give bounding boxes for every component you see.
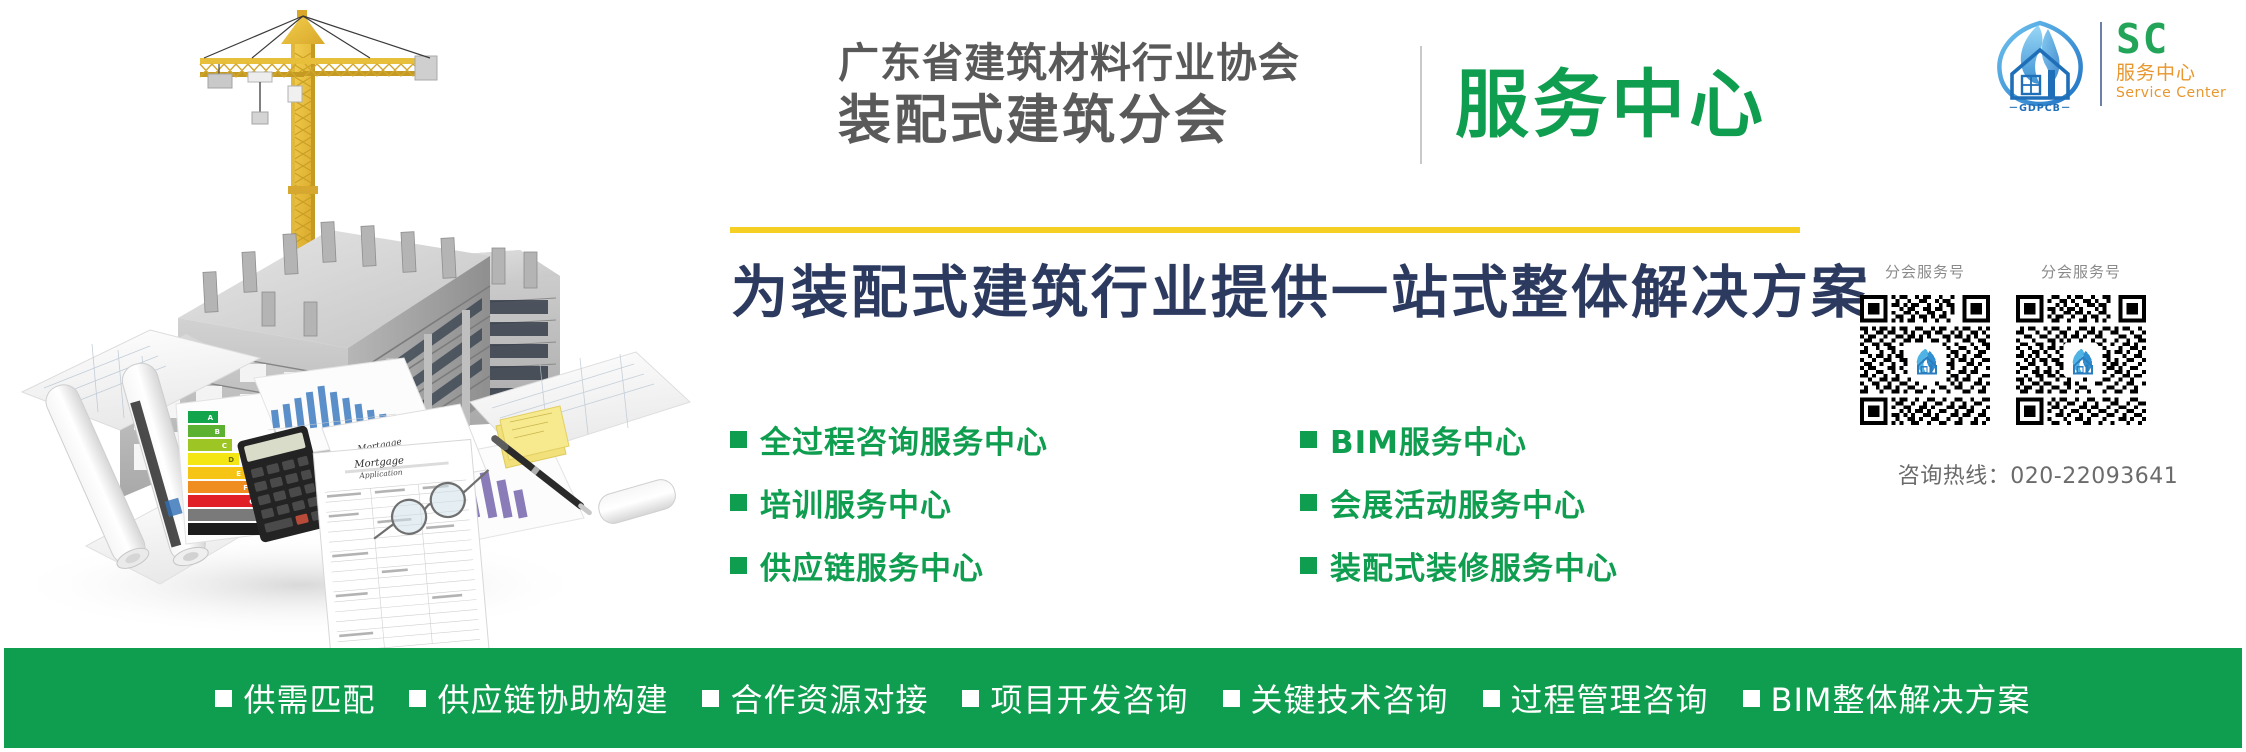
service-item[interactable]: 培训服务中心 (730, 471, 1200, 534)
service-item[interactable]: 装配式装修服务中心 (1300, 534, 1770, 597)
construction-hero-image: A B C D E F G H I (0, 0, 700, 648)
construction-site-illustration: A B C D E F G H I (0, 0, 700, 648)
service-item-label: BIM服务中心 (1330, 417, 1527, 462)
square-bullet-icon (1300, 557, 1317, 574)
yellow-divider-rule (730, 227, 1800, 233)
footer-item[interactable]: BIM整体解决方案 (1743, 675, 2031, 721)
footer-item-label: 供需匹配 (243, 675, 375, 721)
square-bullet-icon (1483, 690, 1500, 707)
square-bullet-icon (962, 690, 979, 707)
footer-item-label: 供应链协助构建 (437, 675, 668, 721)
service-item-label: 培训服务中心 (760, 480, 952, 525)
service-item[interactable]: 供应链服务中心 (730, 534, 1200, 597)
svg-text:A: A (208, 414, 214, 422)
service-centers-list: 全过程咨询服务中心 培训服务中心 供应链服务中心 BIM服务中心 会展活动服务中… (730, 408, 1790, 598)
svg-text:D: D (228, 456, 234, 464)
footer-capability-bar: 供需匹配 供应链协助构建 合作资源对接 项目开发咨询 关键技术咨询 过程管理咨询… (4, 648, 2242, 748)
svg-text:C: C (222, 442, 227, 450)
footer-item-label: BIM整体解决方案 (1771, 675, 2031, 721)
service-column-right: BIM服务中心 会展活动服务中心 装配式装修服务中心 (1300, 408, 1770, 597)
qr-code-icon[interactable] (2016, 295, 2146, 425)
gdpcb-house-flame-icon: －GDPCB－ (1988, 14, 2092, 114)
square-bullet-icon (702, 690, 719, 707)
qr-codes-block: 分会服务号 (1838, 262, 2238, 562)
svg-text:E: E (236, 470, 241, 478)
sc-english-label: Service Center (2116, 85, 2236, 102)
square-bullet-icon (1743, 690, 1760, 707)
main-slogan: 为装配式建筑行业提供一站式整体解决方案 (731, 258, 1871, 328)
association-name-line1: 广东省建筑材料行业协会 (838, 38, 1398, 88)
qr-code-icon[interactable] (1860, 295, 1990, 425)
service-item-label: 会展活动服务中心 (1330, 480, 1586, 525)
footer-item-label: 项目开发咨询 (990, 675, 1188, 721)
footer-item[interactable]: 关键技术咨询 (1223, 675, 1449, 721)
qr-matrix (1860, 295, 1990, 425)
qr-item[interactable]: 分会服务号 (1860, 262, 1990, 425)
square-bullet-icon (1300, 431, 1317, 448)
footer-items-row: 供需匹配 供应链协助构建 合作资源对接 项目开发咨询 关键技术咨询 过程管理咨询… (198, 675, 2047, 721)
footer-item-label: 过程管理咨询 (1511, 675, 1709, 721)
association-title-block: 广东省建筑材料行业协会 装配式建筑分会 (838, 38, 1398, 178)
footer-item[interactable]: 供应链协助构建 (409, 675, 668, 721)
qr-caption: 分会服务号 (1860, 262, 1990, 282)
service-item[interactable]: 会展活动服务中心 (1300, 471, 1770, 534)
square-bullet-icon (1300, 494, 1317, 511)
logo-block: －GDPCB－ SC 服务中心 Service Center (1988, 14, 2238, 114)
footer-item[interactable]: 过程管理咨询 (1483, 675, 1709, 721)
service-center-heading: 服务中心 (1455, 46, 1767, 164)
service-item-label: 供应链服务中心 (760, 543, 984, 588)
square-bullet-icon (730, 431, 747, 448)
footer-item[interactable]: 项目开发咨询 (962, 675, 1188, 721)
title-vertical-divider (1420, 46, 1422, 164)
qr-caption: 分会服务号 (2016, 262, 2146, 282)
sc-chinese-label: 服务中心 (2116, 61, 2236, 85)
qr-matrix (2016, 295, 2146, 425)
service-item[interactable]: 全过程咨询服务中心 (730, 408, 1200, 471)
svg-text:－GDPCB－: －GDPCB－ (2009, 103, 2072, 114)
sc-wordmark: SC (2116, 18, 2236, 60)
qr-item[interactable]: 分会服务号 (2016, 262, 2146, 425)
square-bullet-icon (409, 690, 426, 707)
square-bullet-icon (1223, 690, 1240, 707)
svg-text:B: B (215, 428, 220, 436)
association-name-line2: 装配式建筑分会 (838, 90, 1398, 152)
square-bullet-icon (730, 494, 747, 511)
footer-item[interactable]: 供需匹配 (215, 675, 375, 721)
service-item-label: 全过程咨询服务中心 (760, 417, 1048, 462)
sc-logo-text-group: SC 服务中心 Service Center (2116, 18, 2236, 102)
service-item[interactable]: BIM服务中心 (1300, 408, 1770, 471)
footer-item-label: 关键技术咨询 (1251, 675, 1449, 721)
service-item-label: 装配式装修服务中心 (1330, 543, 1618, 588)
square-bullet-icon (730, 557, 747, 574)
logo-divider (2100, 22, 2102, 106)
hotline-text: 咨询热线：020-22093641 (1838, 458, 2238, 490)
square-bullet-icon (215, 690, 232, 707)
service-column-left: 全过程咨询服务中心 培训服务中心 供应链服务中心 (730, 408, 1200, 597)
footer-item-label: 合作资源对接 (730, 675, 928, 721)
footer-item[interactable]: 合作资源对接 (702, 675, 928, 721)
